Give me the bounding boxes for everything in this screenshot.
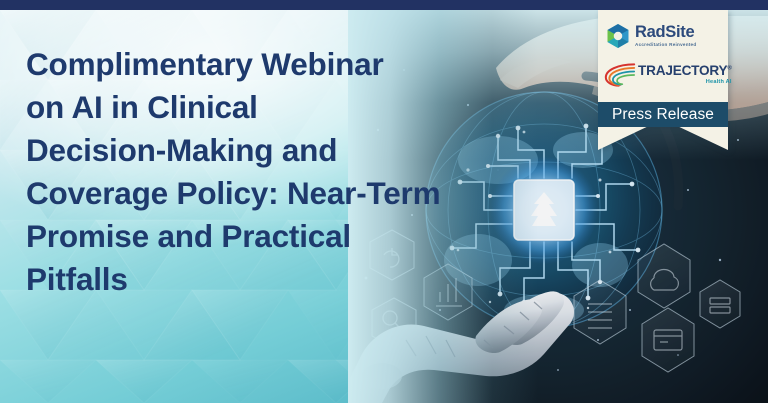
headline-line-1: Complimentary Webinar xyxy=(26,43,496,86)
status-badge: Press Release xyxy=(598,102,728,127)
press-release-ribbon: RadSite Accreditation Reinvented TRAJECT… xyxy=(598,10,728,150)
trajectory-wordmark-text: TRAJECTORY xyxy=(638,63,727,78)
top-accent-bar xyxy=(0,0,768,10)
trajectory-logo[interactable]: TRAJECTORY® Health AI xyxy=(603,58,723,92)
headline-line-2: on AI in Clinical xyxy=(26,86,496,129)
headline-line-6: Pitfalls xyxy=(26,258,496,301)
headline-line-5: Promise and Practical xyxy=(26,215,496,258)
hexagon-logo-icon xyxy=(606,23,630,49)
press-release-banner: Complimentary Webinar on AI in Clinical … xyxy=(0,0,768,403)
press-release-label: Press Release xyxy=(612,106,714,124)
headline-line-4: Coverage Policy: Near-Term xyxy=(26,172,496,215)
radsite-logo[interactable]: RadSite Accreditation Reinvented xyxy=(606,20,720,52)
trajectory-wordmark: TRAJECTORY® xyxy=(638,64,732,78)
radsite-wordmark: RadSite xyxy=(635,24,696,41)
trajectory-tagline: Health AI xyxy=(638,80,732,86)
page-title: Complimentary Webinar on AI in Clinical … xyxy=(26,43,496,301)
radsite-tagline: Accreditation Reinvented xyxy=(635,43,696,48)
headline-line-3: Decision-Making and xyxy=(26,129,496,172)
registered-mark-icon: ® xyxy=(727,66,731,72)
swoosh-arcs-icon xyxy=(603,62,637,88)
